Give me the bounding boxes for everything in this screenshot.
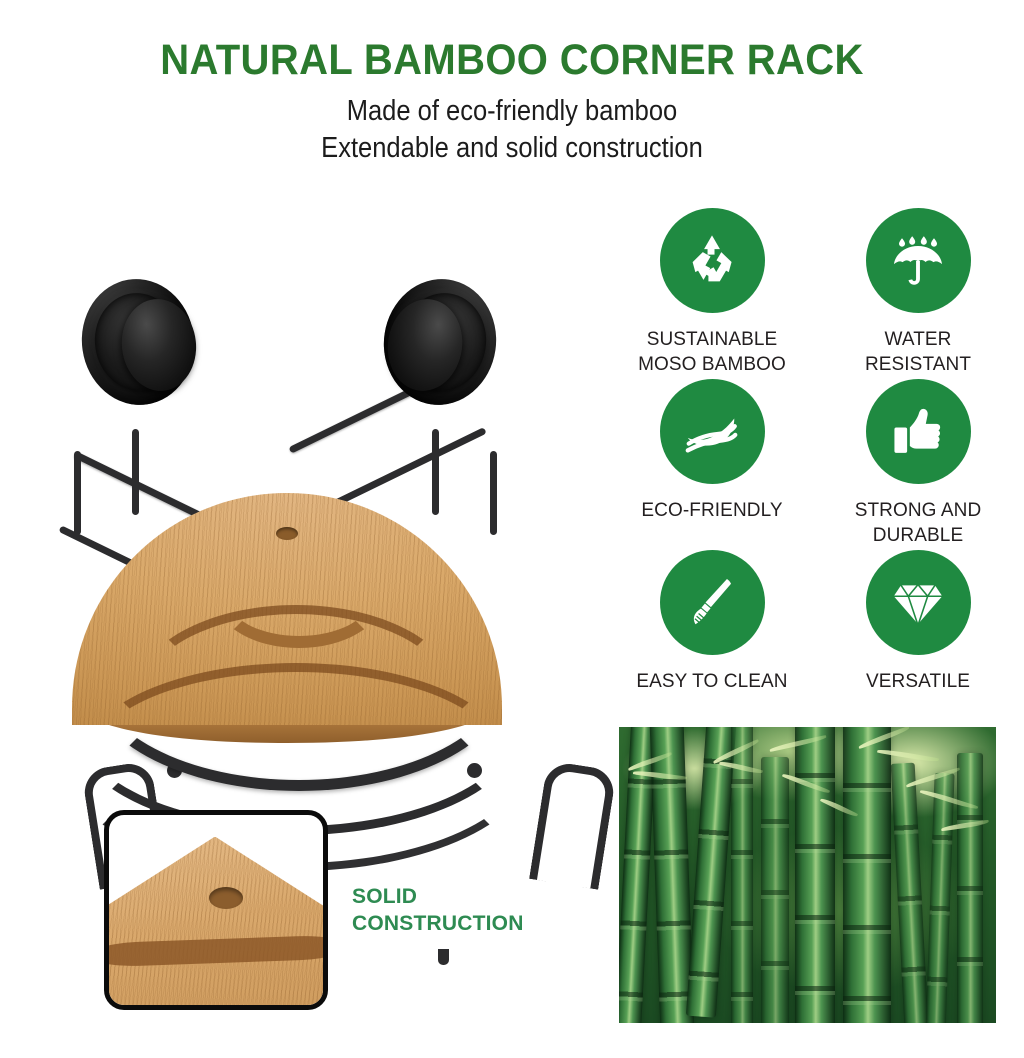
feature-icon-badge xyxy=(866,379,971,484)
page-title: NATURAL BAMBOO CORNER RACK xyxy=(36,0,988,85)
leaf-icon xyxy=(681,401,743,463)
feature-icon-badge xyxy=(866,208,971,313)
bamboo-forest-photo xyxy=(619,727,996,1023)
feature-item-strong-and-durable: STRONG AND DURABLE xyxy=(822,379,1014,550)
solid-construction-callout: SOLID CONSTRUCTION xyxy=(104,812,524,1007)
feature-icon-badge xyxy=(660,379,765,484)
feature-item-eco-friendly: ECO-FRIENDLY xyxy=(616,379,808,550)
feature-label: ECO-FRIENDLY xyxy=(641,498,782,523)
bamboo-stalk xyxy=(957,753,983,1023)
bamboo-stalk xyxy=(761,757,789,1023)
bamboo-shelf-closeup xyxy=(104,837,328,1010)
bamboo-stalk xyxy=(795,727,835,1023)
subtitle-line-1: Made of eco-friendly bamboo xyxy=(61,85,962,130)
feature-icon-badge xyxy=(660,208,765,313)
feature-benefits-grid: SUSTAINABLE MOSO BAMBOO WATER RESISTANT xyxy=(616,208,1014,721)
feature-label: EASY TO CLEAN xyxy=(636,669,787,694)
bamboo-stalk xyxy=(843,727,891,1023)
feature-item-versatile: VERSATILE xyxy=(822,550,1014,721)
subtitle-line-2: Extendable and solid construction xyxy=(61,130,962,167)
recycle-icon xyxy=(681,230,743,292)
broom-icon xyxy=(683,574,741,632)
feature-label: WATER RESISTANT xyxy=(865,327,971,377)
feature-icon-badge xyxy=(660,550,765,655)
feature-label: STRONG AND DURABLE xyxy=(855,498,982,548)
feature-item-easy-to-clean: EASY TO CLEAN xyxy=(616,550,808,721)
shelf-drain-hole xyxy=(276,527,298,540)
solid-construction-label: SOLID CONSTRUCTION xyxy=(352,883,524,937)
header: NATURAL BAMBOO CORNER RACK Made of eco-f… xyxy=(0,0,1024,167)
feature-icon-badge xyxy=(866,550,971,655)
umbrella-icon xyxy=(887,230,949,292)
suction-cup-left xyxy=(82,279,204,407)
diamond-icon xyxy=(887,572,949,634)
closeup-drain-hole xyxy=(209,887,243,909)
wire-handle-right xyxy=(529,760,617,889)
suction-cup-right xyxy=(384,279,506,407)
feature-label: VERSATILE xyxy=(866,669,970,694)
bamboo-shelf xyxy=(72,493,502,755)
solid-construction-image xyxy=(104,810,328,1010)
product-image xyxy=(20,275,600,765)
wood-grain-texture xyxy=(104,837,328,1010)
thumbs-up-icon xyxy=(889,403,947,461)
feature-label: SUSTAINABLE MOSO BAMBOO xyxy=(638,327,786,377)
feature-item-water-resistant: WATER RESISTANT xyxy=(822,208,1014,379)
feature-item-sustainable-moso-bamboo: SUSTAINABLE MOSO BAMBOO xyxy=(616,208,808,379)
